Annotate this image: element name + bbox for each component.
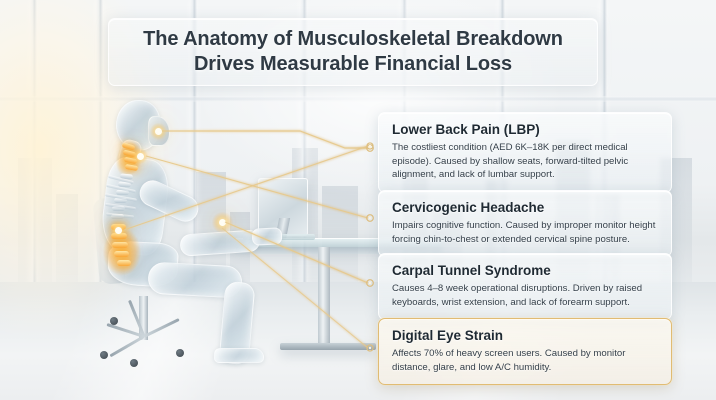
desk-column — [318, 247, 330, 345]
eye-hotspot — [150, 123, 167, 140]
infographic-canvas: The Anatomy of Musculoskeletal Breakdown… — [0, 0, 716, 400]
card-body: Affects 70% of heavy screen users. Cause… — [392, 347, 658, 374]
figure-foot — [214, 348, 264, 363]
lumbar-spine-hotspot — [110, 222, 126, 238]
cervical-spine-hotspot — [132, 148, 148, 164]
card-body: The costliest condition (AED 6K–18K per … — [392, 141, 658, 182]
title-line-2: Drives Measurable Financial Loss — [194, 52, 512, 77]
info-card-digital-eye-strain[interactable]: Digital Eye Strain Affects 70% of heavy … — [378, 318, 672, 385]
card-body: Impairs cognitive function. Caused by im… — [392, 219, 658, 246]
title-panel: The Anatomy of Musculoskeletal Breakdown… — [108, 18, 598, 86]
wrist-hotspot — [212, 212, 233, 233]
info-card-carpal-tunnel-syndrome[interactable]: Carpal Tunnel Syndrome Causes 4–8 week o… — [378, 253, 672, 320]
card-body: Causes 4–8 week operational disruptions.… — [392, 282, 658, 309]
card-title: Carpal Tunnel Syndrome — [392, 263, 658, 279]
card-title: Cervicogenic Headache — [392, 200, 658, 216]
info-card-cervicogenic-headache[interactable]: Cervicogenic Headache Impairs cognitive … — [378, 190, 672, 257]
card-title: Lower Back Pain (LBP) — [392, 122, 658, 138]
figure-hand — [252, 227, 283, 246]
figure-forearm — [179, 229, 260, 257]
info-card-lower-back-pain[interactable]: Lower Back Pain (LBP) The costliest cond… — [378, 112, 672, 193]
title-line-1: The Anatomy of Musculoskeletal Breakdown — [143, 27, 563, 52]
card-title: Digital Eye Strain — [392, 328, 658, 344]
